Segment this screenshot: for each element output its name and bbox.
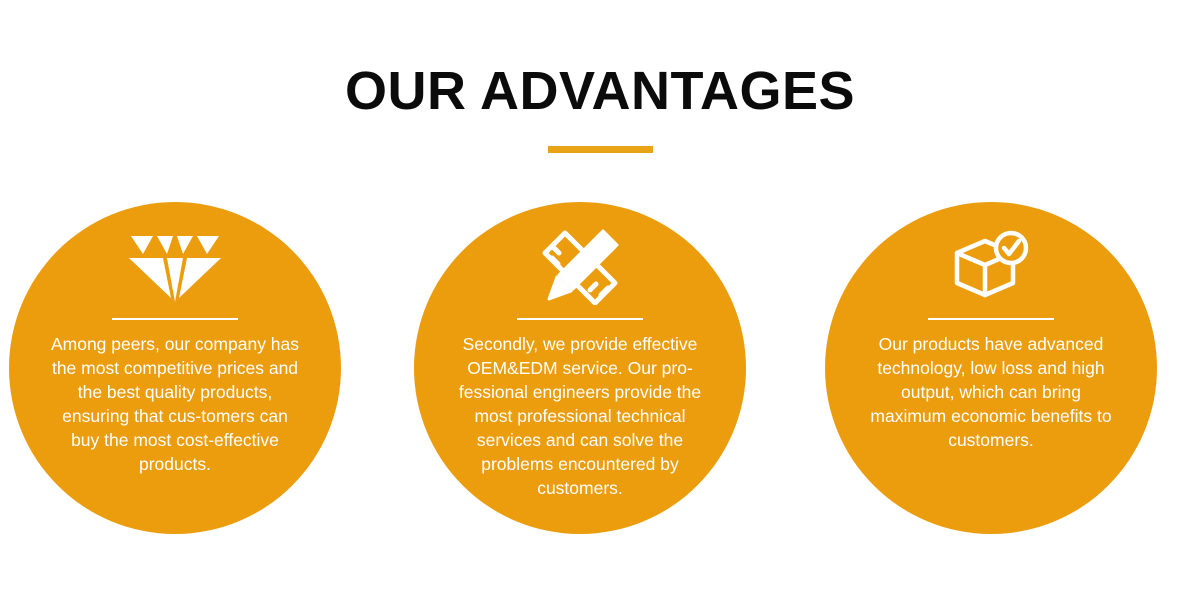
diamond-icon [127, 230, 223, 302]
section-header: OUR ADVANTAGES [0, 58, 1200, 153]
card-divider [928, 318, 1054, 320]
card-divider [112, 318, 238, 320]
card-divider [517, 318, 643, 320]
page-title: OUR ADVANTAGES [0, 58, 1200, 124]
title-underline [548, 146, 653, 153]
box-check-icon [951, 230, 1031, 302]
pencil-ruler-icon [539, 230, 621, 302]
advantage-card-2-text: Secondly, we provide effective OEM&EDM s… [452, 332, 708, 500]
advantage-card-2[interactable]: Secondly, we provide effective OEM&EDM s… [414, 202, 746, 534]
advantage-card-3[interactable]: Our products have advanced technology, l… [825, 202, 1157, 534]
advantage-card-1-text: Among peers, our company has the most co… [50, 332, 300, 476]
advantage-card-3-text: Our products have advanced technology, l… [865, 332, 1117, 452]
advantage-card-1[interactable]: Among peers, our company has the most co… [9, 202, 341, 534]
advantage-cards: Among peers, our company has the most co… [0, 202, 1200, 542]
advantages-section: OUR ADVANTAGES Amon [0, 0, 1200, 614]
